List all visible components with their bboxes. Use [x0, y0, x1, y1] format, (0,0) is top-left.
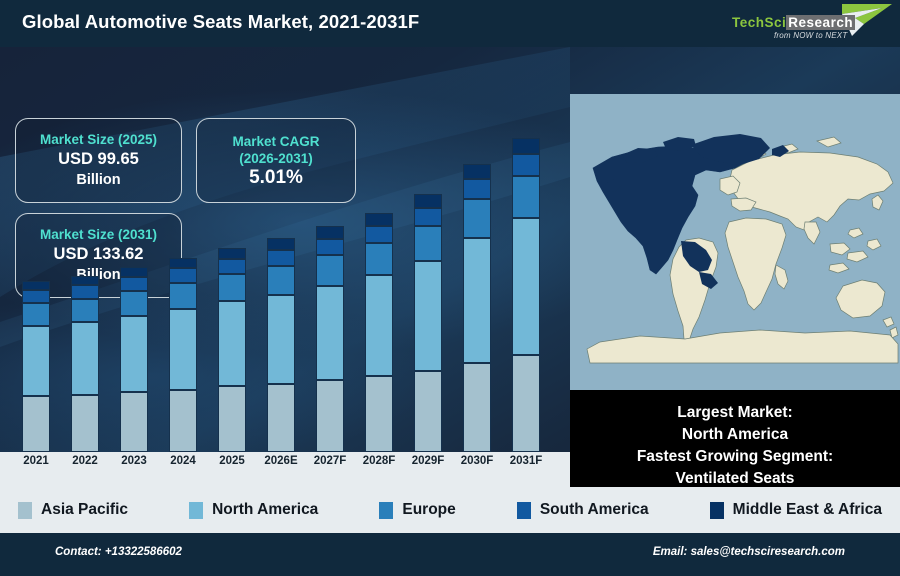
- bar-segment[interactable]: [463, 179, 491, 199]
- x-axis-labels: 202120222023202420252026E2027F2028F2029F…: [0, 455, 570, 480]
- bar-segment[interactable]: [414, 371, 442, 452]
- chart-legend: Asia PacificNorth AmericaEuropeSouth Ame…: [0, 487, 900, 533]
- bar-segment[interactable]: [365, 275, 393, 376]
- bar-2025[interactable]: [218, 248, 246, 452]
- bar-segment[interactable]: [120, 392, 148, 452]
- bar-segment[interactable]: [267, 295, 295, 384]
- bar-segment[interactable]: [22, 303, 50, 326]
- bar-segment[interactable]: [463, 164, 491, 179]
- bar-segment[interactable]: [365, 213, 393, 226]
- bar-segment[interactable]: [414, 261, 442, 370]
- bar-2031F[interactable]: [512, 138, 540, 452]
- bar-segment[interactable]: [22, 290, 50, 303]
- bar-segment[interactable]: [463, 199, 491, 238]
- bar-segment[interactable]: [512, 138, 540, 154]
- bar-2029F[interactable]: [414, 194, 442, 452]
- legend-label: Asia Pacific: [41, 501, 128, 519]
- legend-label: Europe: [402, 501, 455, 519]
- legend-swatch: [517, 502, 531, 519]
- bar-segment[interactable]: [512, 218, 540, 355]
- bar-segment[interactable]: [71, 395, 99, 452]
- footer-email: Email: sales@techsciresearch.com: [653, 546, 845, 558]
- techsci-research-logo: TechSciResearch from NOW to NEXT: [714, 2, 894, 46]
- footer-contact: Contact: +13322586602: [55, 546, 182, 558]
- bar-segment[interactable]: [365, 243, 393, 276]
- bar-segment[interactable]: [71, 299, 99, 323]
- world-map-svg: [570, 94, 900, 394]
- bar-2030F[interactable]: [463, 164, 491, 452]
- bar-segment[interactable]: [463, 238, 491, 363]
- infographic-page: Global Automotive Seats Market, 2021-203…: [0, 0, 900, 576]
- bar-2023[interactable]: [120, 267, 148, 452]
- bar-segment[interactable]: [414, 194, 442, 208]
- bar-2021[interactable]: [22, 281, 50, 452]
- bar-segment[interactable]: [22, 396, 50, 452]
- bar-segment[interactable]: [120, 316, 148, 393]
- bar-segment[interactable]: [169, 258, 197, 269]
- bar-segment[interactable]: [267, 250, 295, 266]
- callout-box: Largest Market: North America Fastest Gr…: [570, 390, 900, 502]
- bar-segment[interactable]: [169, 390, 197, 452]
- bar-segment[interactable]: [169, 283, 197, 309]
- logo-tagline: from NOW to NEXT: [774, 31, 847, 40]
- bar-2026E[interactable]: [267, 238, 295, 452]
- legend-swatch: [18, 502, 32, 519]
- world-map: [570, 94, 900, 394]
- bar-segment[interactable]: [267, 384, 295, 452]
- legend-item[interactable]: Europe: [379, 501, 455, 519]
- bar-segment[interactable]: [71, 285, 99, 298]
- logo-wordmark: TechSciResearch: [732, 15, 855, 30]
- bar-segment[interactable]: [267, 238, 295, 250]
- legend-item[interactable]: South America: [517, 501, 649, 519]
- bar-segment[interactable]: [512, 176, 540, 218]
- bar-segment[interactable]: [463, 363, 491, 452]
- legend-label: Middle East & Africa: [733, 501, 882, 519]
- bar-2024[interactable]: [169, 258, 197, 452]
- bar-segment[interactable]: [365, 376, 393, 452]
- bar-segment[interactable]: [71, 322, 99, 395]
- bar-2028F[interactable]: [365, 213, 393, 452]
- logo-research-text: Research: [786, 15, 855, 30]
- legend-swatch: [710, 502, 724, 519]
- header-bar: Global Automotive Seats Market, 2021-203…: [0, 0, 900, 47]
- bar-segment[interactable]: [71, 276, 99, 286]
- legend-label: South America: [540, 501, 649, 519]
- bar-segment[interactable]: [120, 277, 148, 291]
- bar-segment[interactable]: [316, 255, 344, 286]
- bar-segment[interactable]: [512, 355, 540, 452]
- callout-line-2: North America: [682, 424, 788, 446]
- legend-item[interactable]: North America: [189, 501, 318, 519]
- bar-segment[interactable]: [169, 309, 197, 389]
- bar-segment[interactable]: [316, 380, 344, 452]
- legend-swatch: [379, 502, 393, 519]
- callout-line-3: Fastest Growing Segment:: [637, 446, 833, 468]
- footer-bar: Contact: +13322586602 Email: sales@techs…: [0, 533, 900, 576]
- bar-segment[interactable]: [218, 274, 246, 302]
- bar-segment[interactable]: [120, 267, 148, 277]
- bar-segment[interactable]: [218, 259, 246, 274]
- bar-segment[interactable]: [316, 226, 344, 238]
- bar-segment[interactable]: [414, 226, 442, 261]
- x-axis-label: 2031F: [496, 455, 556, 467]
- bar-segment[interactable]: [218, 248, 246, 259]
- bar-segment[interactable]: [414, 208, 442, 226]
- bar-segment[interactable]: [218, 386, 246, 452]
- legend-item[interactable]: Asia Pacific: [18, 501, 128, 519]
- bar-segment[interactable]: [512, 154, 540, 175]
- bar-segment[interactable]: [365, 226, 393, 243]
- bar-segment[interactable]: [316, 286, 344, 380]
- bar-2022[interactable]: [71, 276, 99, 452]
- legend-swatch: [189, 502, 203, 519]
- page-title: Global Automotive Seats Market, 2021-203…: [22, 11, 419, 33]
- bar-segment[interactable]: [267, 266, 295, 295]
- bar-segment[interactable]: [169, 268, 197, 282]
- bar-segment[interactable]: [22, 281, 50, 290]
- legend-label: North America: [212, 501, 318, 519]
- legend-item[interactable]: Middle East & Africa: [710, 501, 882, 519]
- callout-line-1: Largest Market:: [677, 402, 792, 424]
- chart-panel: Market Size (2025) USD 99.65 Billion Mar…: [0, 47, 900, 487]
- bar-segment[interactable]: [316, 239, 344, 255]
- bar-segment[interactable]: [22, 326, 50, 396]
- bar-segment[interactable]: [120, 291, 148, 316]
- stacked-bar-plot: [0, 47, 570, 487]
- bar-2027F[interactable]: [316, 226, 344, 452]
- logo-tech-text: TechSci: [732, 15, 786, 30]
- bar-segment[interactable]: [218, 301, 246, 386]
